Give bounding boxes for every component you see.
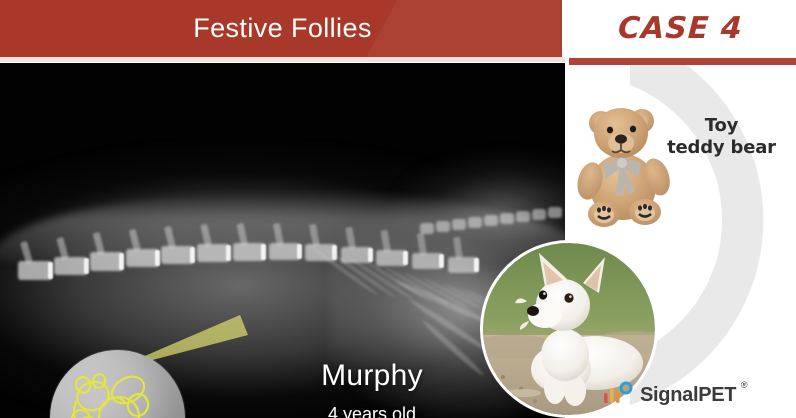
finding-caption-line1: Toy — [649, 115, 794, 137]
finding-caption-line2: teddy bear — [649, 137, 794, 159]
vertebral-body — [126, 249, 159, 267]
vertebral-endplate — [439, 254, 444, 268]
page-title: Festive Follies — [0, 0, 565, 57]
brand-name: SignalPET ® — [640, 385, 736, 405]
vertebral-endplate — [368, 248, 373, 263]
vertebral-endplate — [155, 250, 160, 266]
yellow-annotation-overlay — [50, 350, 185, 418]
vertebral-body — [18, 261, 52, 280]
caudal-vertebra — [532, 209, 546, 220]
vertebral-endplate — [190, 247, 195, 263]
header-underline — [0, 57, 565, 62]
vertebral-body — [197, 244, 229, 262]
caudal-vertebra — [548, 207, 562, 218]
signalpet-mark-icon — [603, 381, 633, 405]
vertebral-body — [90, 252, 123, 271]
magnified-inset — [50, 350, 185, 418]
patient-name: Murphy — [232, 360, 512, 392]
brand-logo[interactable]: SignalPET ® — [603, 381, 736, 405]
caudal-vertebra — [468, 217, 482, 228]
brand-name-text: SignalPET — [640, 384, 736, 406]
case-card: Festive Follies CASE 4 — [0, 0, 796, 418]
vertebral-body — [412, 253, 442, 269]
vertebral-endplate — [261, 244, 266, 260]
caudal-vertebra — [516, 211, 530, 222]
caudal-vertebra — [500, 213, 514, 224]
caudal-vertebra — [436, 221, 450, 232]
patient-age: 4 years old — [232, 403, 512, 418]
vertebral-endplate — [48, 262, 53, 279]
vertebral-endplate — [297, 244, 302, 259]
vertebral-body — [269, 243, 301, 260]
vertebral-endplate — [84, 258, 89, 275]
vertebral-endplate — [403, 251, 408, 266]
caudal-vertebra — [420, 223, 434, 234]
registered-trademark: ® — [741, 381, 747, 390]
vertebral-endplate — [474, 258, 479, 272]
finding-caption: Toy teddy bear — [649, 115, 794, 159]
case-underline-rule — [569, 58, 796, 65]
caudal-vertebra — [452, 219, 466, 230]
vertebral-body — [54, 257, 88, 276]
vertebral-endplate — [226, 245, 231, 261]
vertebral-endplate — [119, 253, 124, 270]
patient-info: Murphy 4 years old Chihuahua mix — [232, 360, 512, 418]
case-number-label: CASE 4 — [564, 2, 796, 54]
caudal-vertebra — [484, 215, 498, 226]
radiograph-panel: Murphy 4 years old Chihuahua mix — [0, 63, 565, 418]
